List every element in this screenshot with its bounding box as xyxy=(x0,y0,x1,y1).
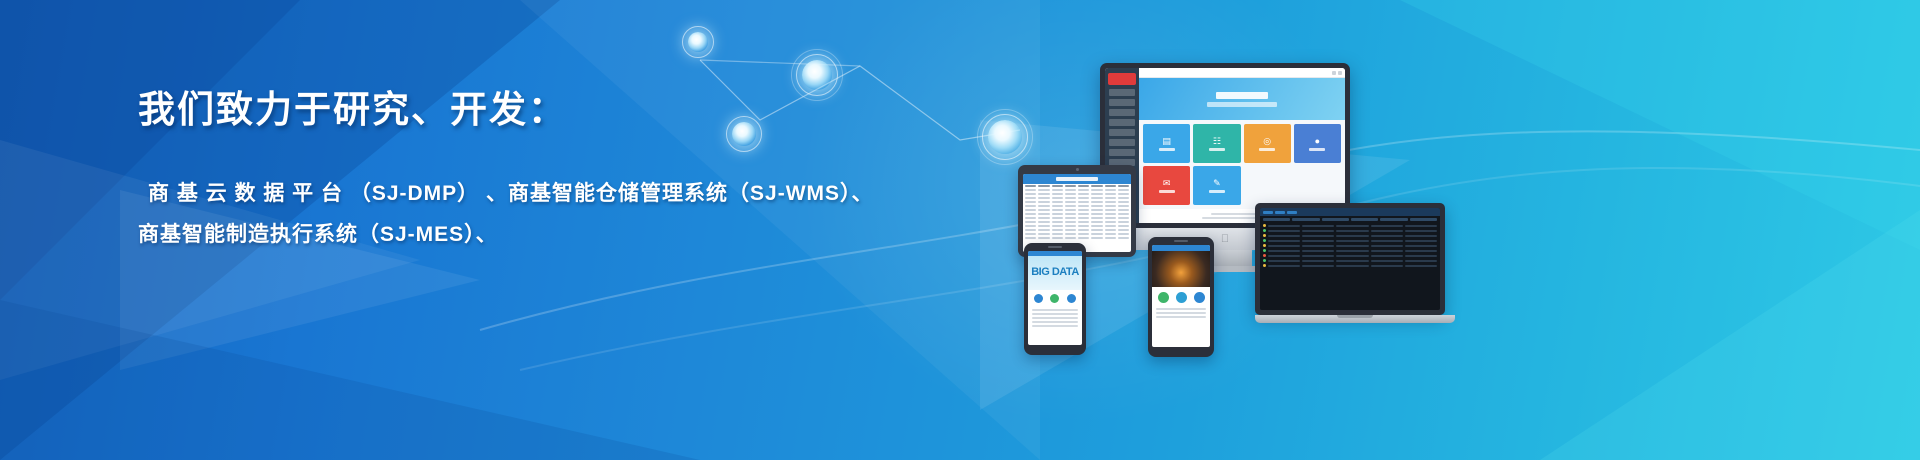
imac-hero-title xyxy=(1216,92,1268,99)
phone-icon-1[interactable] xyxy=(1158,292,1169,303)
tile-customer[interactable]: ● xyxy=(1294,124,1341,163)
list-item[interactable] xyxy=(1032,309,1078,311)
sidebar-item-orders[interactable] xyxy=(1109,99,1135,106)
device-mockup-cluster: ▤ ☷ ◎ ● ✉ ✎ xyxy=(1000,45,1520,355)
phone-speaker-icon xyxy=(1048,246,1062,248)
phone-icon-row xyxy=(1028,290,1082,307)
tile-messages[interactable]: ✉ xyxy=(1143,166,1190,205)
list-item[interactable] xyxy=(1032,325,1078,327)
laptop-title-bar xyxy=(1260,208,1440,216)
imac-screen: ▤ ☷ ◎ ● ✉ ✎ xyxy=(1105,68,1345,223)
laptop-table-header xyxy=(1260,216,1440,223)
phone-right-screen xyxy=(1152,245,1210,347)
list-item[interactable] xyxy=(1032,313,1078,315)
phone-left-screen: BIG DATA xyxy=(1028,251,1082,345)
table-row[interactable] xyxy=(1260,263,1440,268)
product-line-2: 商基智能制造执行系统（SJ-MES）、 xyxy=(138,215,958,256)
page-title: 我们致力于研究、开发： xyxy=(138,88,958,132)
phone-list xyxy=(1028,309,1082,327)
bigdata-label: BIG DATA xyxy=(1031,268,1079,278)
phone-hero-image: BIG DATA xyxy=(1028,256,1082,290)
tile-business[interactable]: ▤ xyxy=(1143,124,1190,163)
tile-reports[interactable]: ☷ xyxy=(1193,124,1240,163)
sidebar-item-home[interactable] xyxy=(1109,89,1135,96)
tablet-screen xyxy=(1023,174,1131,252)
sidebar-item-warehouse[interactable] xyxy=(1109,109,1135,116)
list-item[interactable] xyxy=(1156,308,1206,310)
phone-mockup-right xyxy=(1148,237,1214,357)
imac-topbar xyxy=(1139,68,1345,78)
table-row[interactable] xyxy=(1023,236,1131,240)
imac-hero-subtitle xyxy=(1207,102,1277,107)
node-top-left-icon xyxy=(688,32,708,52)
phone-icon-3[interactable] xyxy=(1067,294,1076,303)
sidebar-item-settings[interactable] xyxy=(1109,139,1135,146)
phone-speaker-icon xyxy=(1174,240,1188,242)
phone-icon-row xyxy=(1152,287,1210,306)
imac-tile-grid: ▤ ☷ ◎ ● ✉ ✎ xyxy=(1139,120,1345,209)
phone-icon-3[interactable] xyxy=(1194,292,1205,303)
node-top-right-icon xyxy=(802,60,832,90)
tile-settings[interactable]: ✎ xyxy=(1193,166,1240,205)
phone-icon-2[interactable] xyxy=(1050,294,1059,303)
sidebar-item-devices[interactable] xyxy=(1109,129,1135,136)
search-icon[interactable] xyxy=(1332,71,1336,75)
phone-icon-1[interactable] xyxy=(1034,294,1043,303)
tile-empty-1 xyxy=(1244,166,1291,205)
phone-icon-2[interactable] xyxy=(1176,292,1187,303)
hero-banner: 我们致力于研究、开发： 商 基 云 数 据 平 台 （SJ-DMP） 、商基智能… xyxy=(0,0,1920,460)
sidebar-item-reports[interactable] xyxy=(1109,119,1135,126)
laptop-screen xyxy=(1260,208,1440,310)
imac-logo-icon xyxy=(1108,73,1136,85)
user-avatar[interactable] xyxy=(1338,71,1342,75)
laptop-deck xyxy=(1255,315,1455,323)
phone-photo xyxy=(1152,251,1210,287)
list-item[interactable] xyxy=(1156,316,1206,318)
apple-logo-icon:  xyxy=(1221,233,1229,245)
tablet-camera-icon xyxy=(1076,168,1079,171)
sidebar-item-permissions[interactable] xyxy=(1109,149,1135,156)
laptop-mockup xyxy=(1255,203,1455,333)
list-item[interactable] xyxy=(1032,317,1078,319)
phone-list xyxy=(1152,308,1210,318)
tile-empty-2 xyxy=(1294,166,1341,205)
phone-mockup-left: BIG DATA xyxy=(1024,243,1086,355)
laptop-notch xyxy=(1337,315,1373,318)
imac-hero xyxy=(1139,78,1345,120)
tablet-title-bar xyxy=(1023,174,1131,184)
product-line-1: 商 基 云 数 据 平 台 （SJ-DMP） 、商基智能仓储管理系统（SJ-WM… xyxy=(138,174,958,215)
list-item[interactable] xyxy=(1032,321,1078,323)
list-item[interactable] xyxy=(1156,312,1206,314)
laptop-lid xyxy=(1255,203,1445,315)
tile-warehouse[interactable]: ◎ xyxy=(1244,124,1291,163)
imac-content: ▤ ☷ ◎ ● ✉ ✎ xyxy=(1139,68,1345,223)
banner-copy: 我们致力于研究、开发： 商 基 云 数 据 平 台 （SJ-DMP） 、商基智能… xyxy=(138,88,958,256)
